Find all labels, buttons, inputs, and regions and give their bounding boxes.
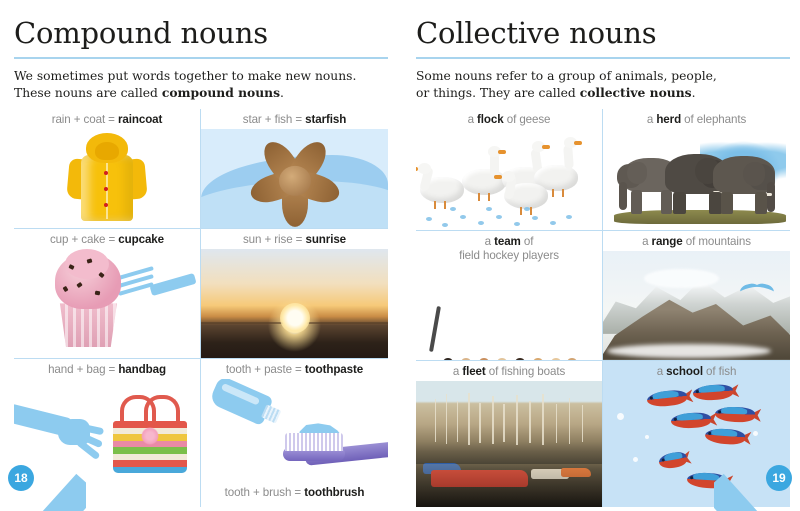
cell-fleet-of-boats: a fleet of fishing boats [416, 361, 603, 507]
caption-term: school [666, 365, 703, 378]
cell-sunrise: sun + rise = sunrise [201, 229, 388, 359]
caption-range: a range of mountains [640, 231, 753, 251]
caption-term: handbag [118, 363, 166, 376]
caption-flock: a flock of geese [466, 109, 553, 129]
caption-term: starfish [305, 113, 346, 126]
cell-flock-of-geese: a flock of geese [416, 109, 603, 231]
toothbrush-icon [257, 435, 388, 477]
caption-text: of [521, 235, 534, 248]
intro-paragraph: We sometimes put words together to make … [14, 68, 388, 100]
compound-noun-grid: rain + coat = raincoat [14, 109, 388, 507]
illustration-mountains [603, 251, 790, 360]
intro-term: collective nouns [580, 85, 692, 100]
title-rule [14, 57, 388, 59]
page-number-badge-left: 18 [0, 453, 86, 511]
intro-term: compound nouns [162, 85, 280, 100]
caption-text: a [453, 365, 462, 378]
intro-paragraph: Some nouns refer to a group of animals, … [416, 68, 790, 100]
intro-line-2-suffix: . [280, 86, 284, 100]
caption-toothbrush: tooth + brush = toothbrush [223, 482, 367, 506]
caption-cupcake: cup + cake = cupcake [48, 229, 166, 249]
caption-text-line2: field hockey players [459, 249, 559, 262]
caption-raincoat: rain + coat = raincoat [50, 109, 165, 129]
collective-noun-grid: a flock of geese [416, 109, 790, 507]
caption-sunrise: sun + rise = sunrise [241, 229, 348, 249]
caption-team: a team of field hockey players [457, 231, 561, 266]
caption-starfish: star + fish = starfish [241, 109, 349, 129]
page-collective-nouns: Collective nouns Some nouns refer to a g… [400, 0, 800, 511]
caption-text: of fishing boats [486, 365, 566, 378]
fork-icon [118, 265, 196, 305]
page-number: 18 [8, 465, 34, 491]
caption-term: toothbrush [304, 486, 364, 499]
bird-icon [740, 281, 774, 295]
intro-line-2-prefix: or things. They are called [416, 86, 580, 100]
page-compound-nouns: Compound nouns We sometimes put words to… [0, 0, 400, 511]
illustration-fishing-boats [416, 381, 602, 507]
cell-raincoat: rain + coat = raincoat [14, 109, 201, 229]
cell-herd-of-elephants: a herd of elephants [603, 109, 790, 231]
caption-term: cupcake [118, 233, 164, 246]
illustration-cupcake [14, 249, 200, 358]
book-spread: Compound nouns We sometimes put words to… [0, 0, 800, 511]
caption-text: a [642, 235, 651, 248]
illustration-hockey-team [416, 266, 602, 360]
caption-text: sun + rise = [243, 233, 306, 246]
caption-term: team [494, 235, 521, 248]
caption-text: rain + coat = [52, 113, 118, 126]
illustration-raincoat [14, 129, 200, 228]
intro-line-2-prefix: These nouns are called [14, 86, 162, 100]
caption-text: tooth + brush = [225, 486, 305, 499]
caption-term: herd [656, 113, 681, 126]
caption-term: range [652, 235, 683, 248]
page-number-badge-right: 19 [714, 453, 800, 511]
caption-herd: a herd of elephants [645, 109, 748, 129]
cell-cupcake: cup + cake = cupcake [14, 229, 201, 359]
caption-toothpaste: tooth + paste = toothpaste [224, 359, 365, 379]
caption-text: cup + cake = [50, 233, 118, 246]
cell-team-of-players: a team of field hockey players [416, 231, 603, 361]
cell-toothpaste-toothbrush: tooth + paste = toothpaste tooth + [201, 359, 388, 507]
starfish-shape [247, 134, 343, 226]
caption-fleet: a fleet of fishing boats [451, 361, 567, 381]
illustration-toothbrush [201, 379, 388, 482]
illustration-elephants [603, 129, 790, 230]
caption-text: a [468, 113, 477, 126]
caption-school: a school of fish [655, 361, 739, 381]
cell-starfish: star + fish = starfish [201, 109, 388, 229]
caption-text: star + fish = [243, 113, 305, 126]
handbag-shape [111, 395, 189, 473]
caption-term: sunrise [305, 233, 346, 246]
intro-line-2-suffix: . [692, 86, 696, 100]
caption-term: flock [477, 113, 504, 126]
caption-handbag: hand + bag = handbag [46, 359, 168, 379]
caption-text: of fish [703, 365, 736, 378]
caption-text: a [485, 235, 494, 248]
title-rule [416, 57, 790, 59]
caption-text: hand + bag = [48, 363, 118, 376]
caption-text: of geese [504, 113, 551, 126]
cell-range-of-mountains: a range of mountains [603, 231, 790, 361]
page-title: Collective nouns [416, 0, 790, 48]
page-title: Compound nouns [14, 0, 388, 48]
illustration-starfish [201, 129, 388, 228]
caption-term: raincoat [118, 113, 162, 126]
caption-term: toothpaste [305, 363, 363, 376]
caption-text: of mountains [683, 235, 751, 248]
caption-text: tooth + paste = [226, 363, 305, 376]
caption-text: a [657, 365, 666, 378]
intro-line-1: We sometimes put words together to make … [14, 69, 356, 83]
caption-text: a [647, 113, 656, 126]
caption-text: of elephants [681, 113, 746, 126]
intro-line-1: Some nouns refer to a group of animals, … [416, 69, 717, 83]
illustration-sunrise [201, 249, 388, 358]
page-number: 19 [766, 465, 792, 491]
caption-term: fleet [462, 365, 485, 378]
illustration-geese [416, 129, 602, 230]
